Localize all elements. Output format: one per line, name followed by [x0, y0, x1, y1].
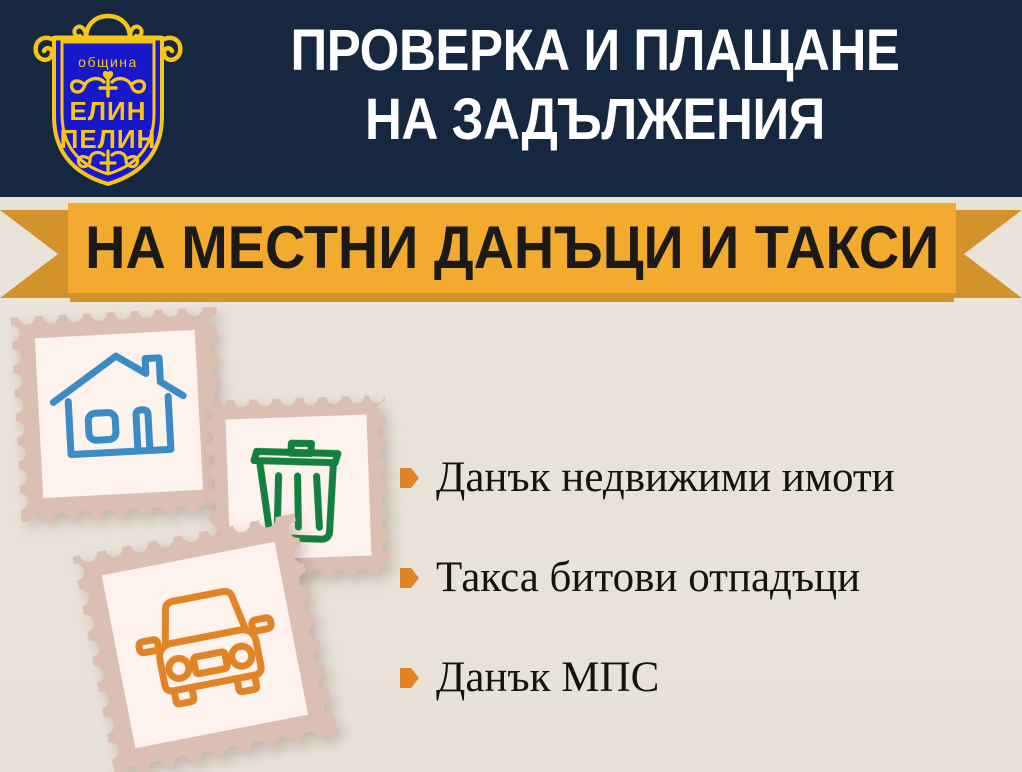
svg-text:община: община: [78, 54, 138, 70]
list-item-label: Данък МПС: [436, 654, 659, 702]
stamp-house-graphic: [11, 307, 227, 523]
ribbon-main: НА МЕСТНИ ДАНЪЦИ И ТАКСИ: [68, 203, 956, 293]
page-title-line-1: ПРОВЕРКА И ПЛАЩАНЕ: [234, 16, 956, 85]
list-item-label: Такса битови отпадъци: [436, 554, 860, 602]
stamp-card-house: [11, 307, 227, 523]
page-title-line-2: НА ЗАДЪЛЖЕНИЯ: [234, 85, 956, 154]
ribbon-shadow: [70, 292, 954, 302]
list-item-label: Данък недвижими имоти: [436, 454, 895, 502]
ribbon-label: НА МЕСТНИ ДАНЪЦИ И ТАКСИ: [85, 218, 939, 278]
poster-canvas: ПРОВЕРКА И ПЛАЩАНЕ НА ЗАДЪЛЖЕНИЯ община: [0, 0, 1022, 772]
page-title: ПРОВЕРКА И ПЛАЩАНЕ НА ЗАДЪЛЖЕНИЯ: [234, 16, 956, 154]
arrow-bullet-icon: [398, 465, 420, 491]
arrow-bullet-icon: [398, 565, 420, 591]
stamp-car-graphic: [73, 514, 338, 772]
ribbon-banner: НА МЕСТНИ ДАНЪЦИ И ТАКСИ: [0, 196, 1022, 306]
municipality-emblem: община ЕЛИН ПЕЛИН: [24, 8, 192, 190]
list-item[interactable]: Такса битови отпадъци: [398, 528, 1008, 628]
list-item[interactable]: Данък МПС: [398, 628, 1008, 728]
tax-types-list: Данък недвижими имоти Такса битови отпад…: [398, 428, 1008, 728]
coat-of-arms-icon: община ЕЛИН ПЕЛИН: [24, 8, 192, 190]
arrow-bullet-icon: [398, 665, 420, 691]
stamp-card-car: [73, 514, 338, 772]
svg-text:ЕЛИН: ЕЛИН: [69, 96, 146, 126]
list-item[interactable]: Данък недвижими имоти: [398, 428, 1008, 528]
